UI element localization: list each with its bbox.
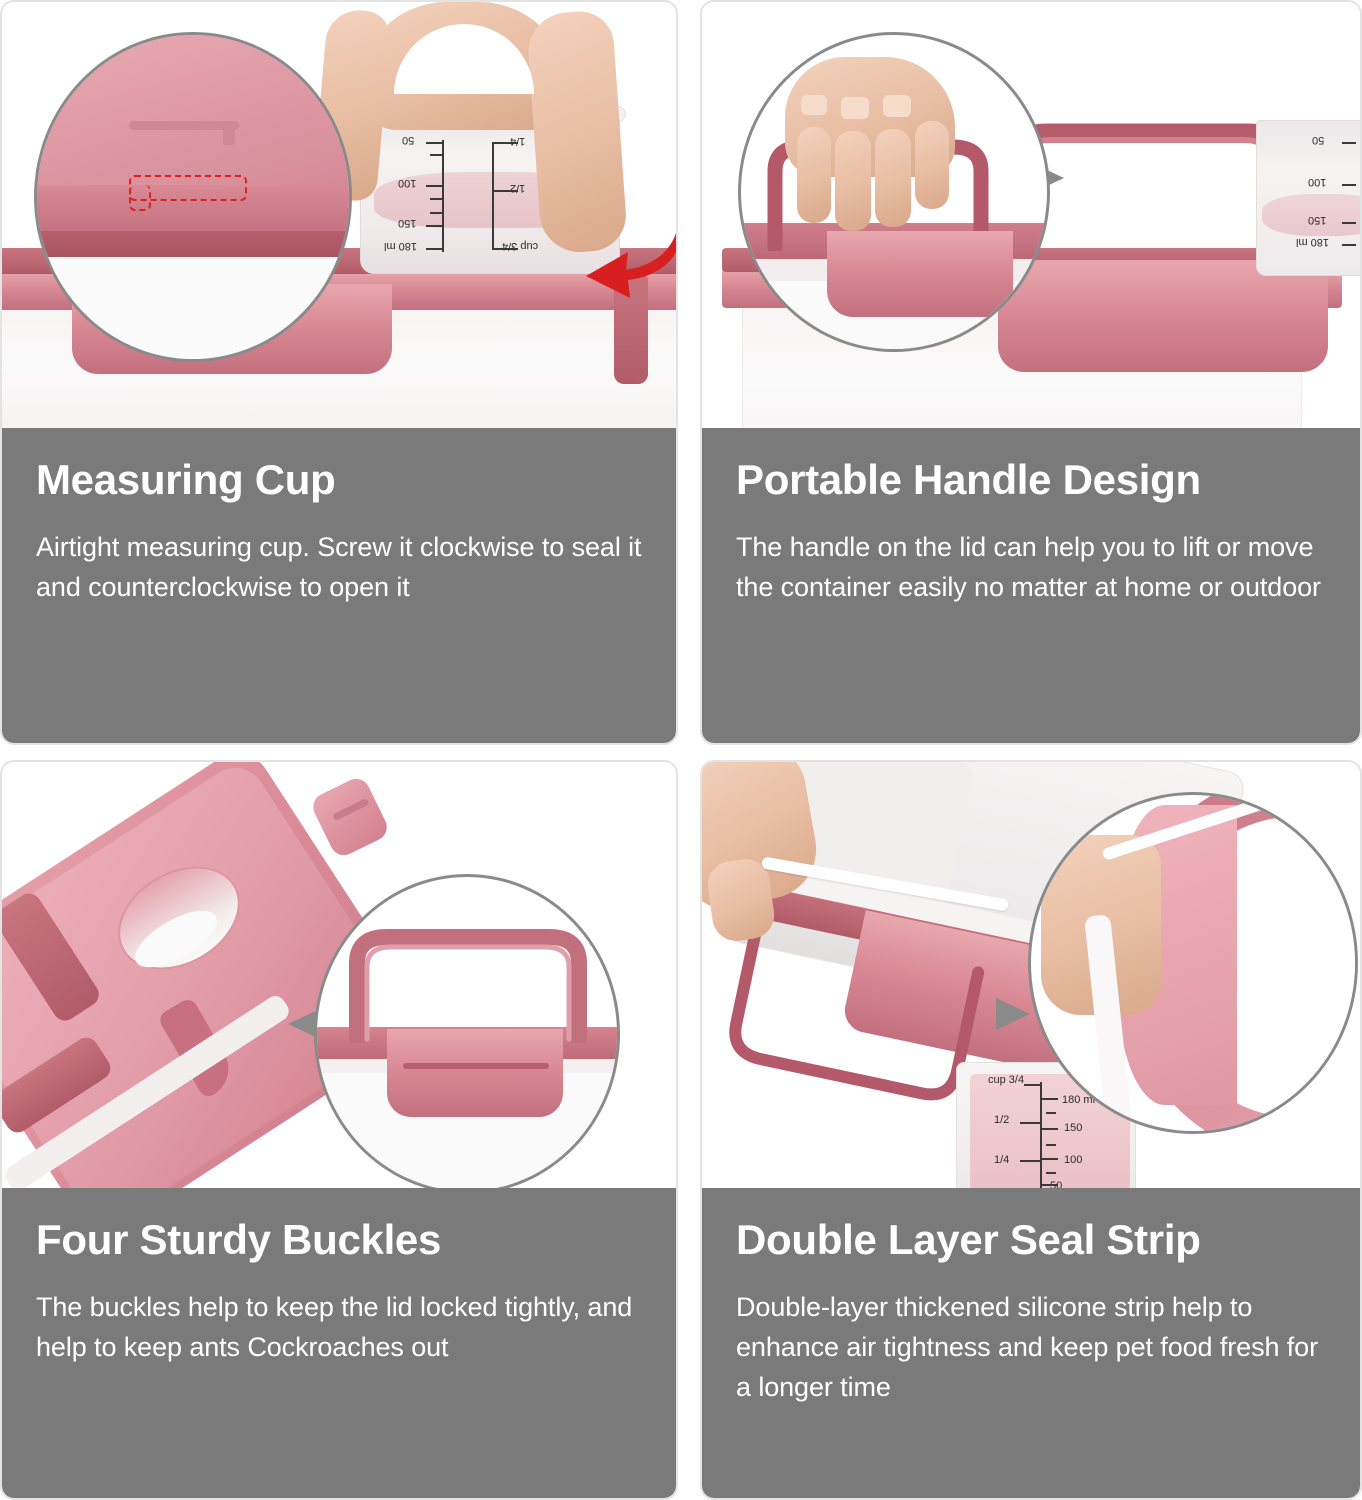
- magnifier-pointer: [996, 998, 1030, 1030]
- product-photo-portable-handle: 50 100 150 180 ml: [702, 2, 1360, 428]
- feature-card-four-buckles: Four Sturdy Buckles The buckles help to …: [0, 760, 678, 1500]
- feature-cell-measuring-cup: 50 100 150 180 ml 1/4 1/2 cup 3/4: [0, 0, 678, 745]
- scale-label-180ml: 180 ml: [1296, 236, 1329, 248]
- scale-label-threequarter: cup 3/4: [988, 1074, 1024, 1086]
- scale-label-150: 150: [398, 217, 416, 229]
- product-photo-double-seal-strip: cup 3/4 1/2 1/4 180 ml 150 100 50: [702, 762, 1360, 1188]
- scale-label-100: 100: [1308, 176, 1326, 188]
- scale-label-180ml: 180 ml: [384, 240, 417, 252]
- magnifier-hand-grip: [738, 32, 1050, 352]
- buckle-front: [998, 260, 1328, 372]
- feature-cell-four-buckles: Four Sturdy Buckles The buckles help to …: [0, 745, 678, 1500]
- magnifier-seal-groove: [1028, 792, 1358, 1134]
- feature-headline: Measuring Cup: [36, 458, 642, 502]
- feature-headline: Double Layer Seal Strip: [736, 1218, 1326, 1262]
- scale-label-quarter: 1/4: [994, 1154, 1009, 1166]
- feature-headline: Portable Handle Design: [736, 458, 1326, 502]
- feature-body: Airtight measuring cup. Screw it clockwi…: [36, 528, 642, 608]
- rotation-arrow-icon: [580, 190, 676, 300]
- buckle-front: [387, 1029, 563, 1117]
- feature-cell-double-seal-strip: cup 3/4 1/2 1/4 180 ml 150 100 50: [678, 745, 1362, 1500]
- scale-label-100: 100: [1064, 1154, 1082, 1166]
- scale-label-half: 1/2: [510, 182, 525, 194]
- feature-card-portable-handle: 50 100 150 180 ml: [700, 0, 1362, 745]
- feature-body: The handle on the lid can help you to li…: [736, 528, 1326, 608]
- scale-label-50: 50: [402, 134, 414, 146]
- feature-body: The buckles help to keep the lid locked …: [36, 1288, 642, 1368]
- scale-label-half: 1/2: [994, 1114, 1009, 1126]
- magnifier-buckle-closed: [314, 874, 620, 1188]
- scale-label-150: 150: [1308, 214, 1326, 226]
- feature-card-measuring-cup: 50 100 150 180 ml 1/4 1/2 cup 3/4: [0, 0, 678, 745]
- feature-cell-portable-handle: 50 100 150 180 ml: [678, 0, 1362, 745]
- scale-label-150: 150: [1064, 1122, 1082, 1134]
- feature-caption-portable-handle: Portable Handle Design The handle on the…: [702, 428, 1360, 743]
- magnifier-screw-tab: [34, 32, 352, 362]
- product-photo-measuring-cup: 50 100 150 180 ml 1/4 1/2 cup 3/4: [2, 2, 676, 428]
- scale-label-threequarter: cup 3/4: [502, 240, 538, 252]
- product-photo-four-buckles: [2, 762, 676, 1188]
- scale-label-100: 100: [398, 177, 416, 189]
- feature-caption-four-buckles: Four Sturdy Buckles The buckles help to …: [2, 1188, 676, 1498]
- feature-caption-measuring-cup: Measuring Cup Airtight measuring cup. Sc…: [2, 428, 676, 743]
- feature-headline: Four Sturdy Buckles: [36, 1218, 642, 1262]
- feature-card-double-seal-strip: cup 3/4 1/2 1/4 180 ml 150 100 50: [700, 760, 1362, 1500]
- scale-label-quarter: 1/4: [510, 135, 525, 147]
- buckle-tab-top: [309, 774, 392, 860]
- feature-caption-double-seal-strip: Double Layer Seal Strip Double-layer thi…: [702, 1188, 1360, 1498]
- feature-grid: 50 100 150 180 ml 1/4 1/2 cup 3/4: [0, 0, 1362, 1500]
- feature-body: Double-layer thickened silicone strip he…: [736, 1288, 1326, 1408]
- scale-label-50: 50: [1312, 134, 1324, 146]
